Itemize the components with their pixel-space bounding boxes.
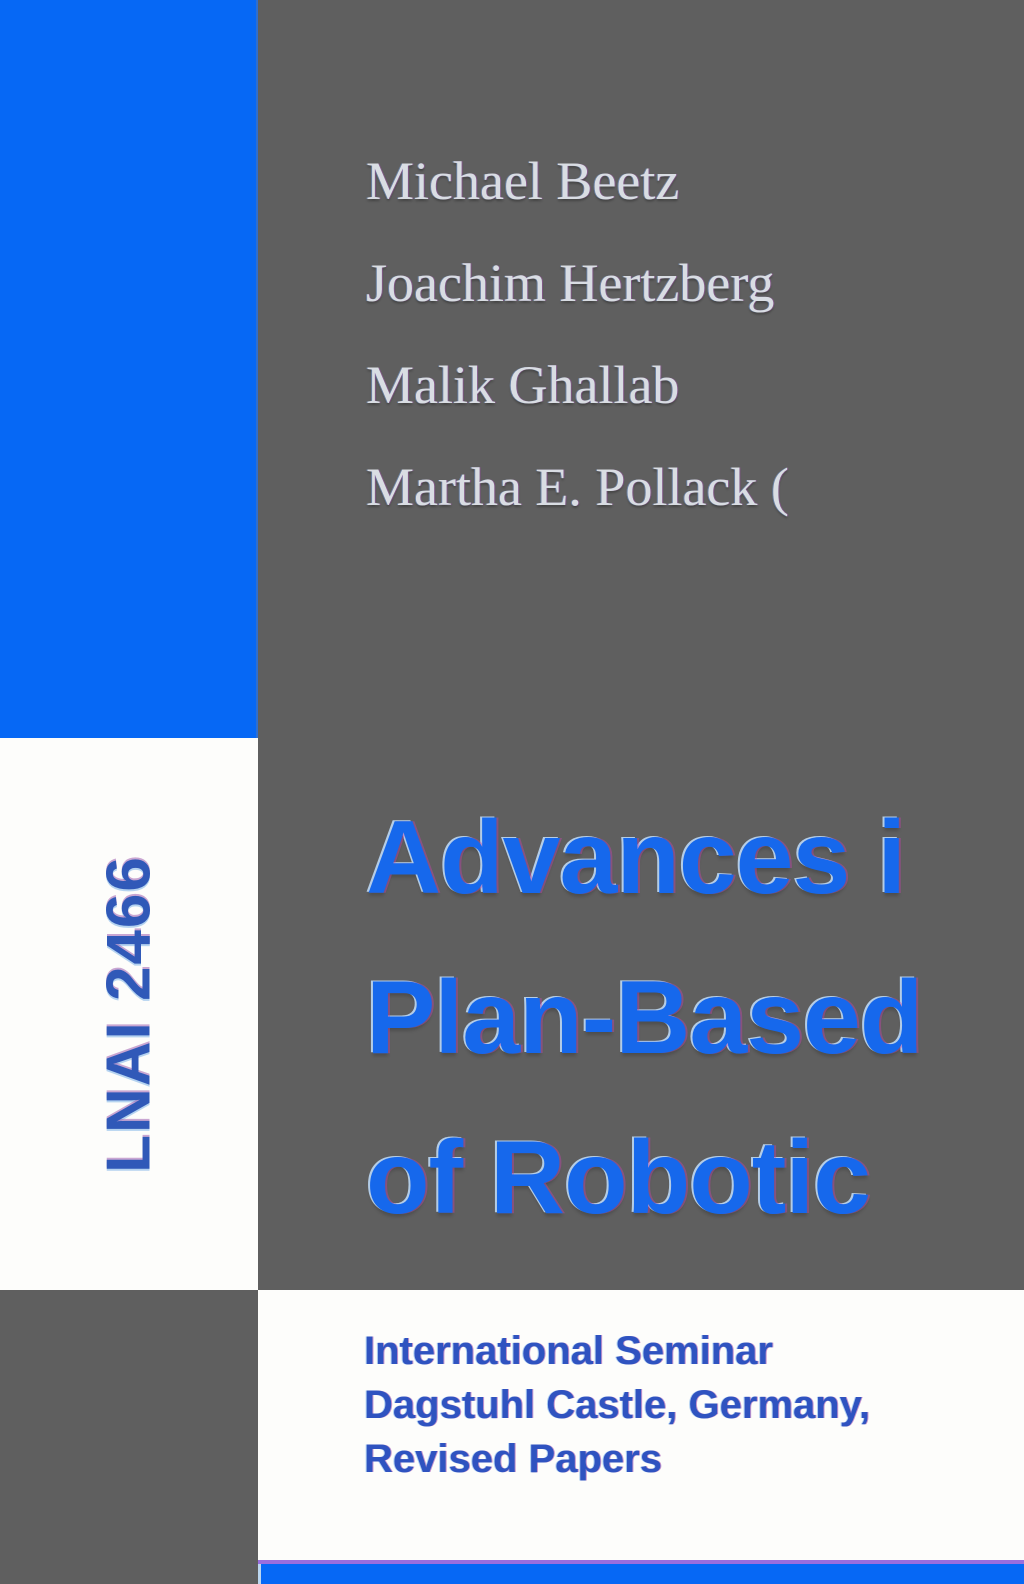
book-cover: Michael Beetz Joachim Hertzberg Malik Gh…	[0, 0, 1024, 1584]
author-list: Michael Beetz Joachim Hertzberg Malik Gh…	[366, 130, 1024, 538]
subtitle-line: Revised Papers	[364, 1432, 1024, 1486]
title-line: Advances i	[366, 778, 1024, 938]
author-line: Joachim Hertzberg	[366, 232, 1024, 334]
book-title: Advances i Plan-Based of Robotic	[366, 778, 1024, 1258]
blue-footer-bar	[258, 1564, 1024, 1584]
author-line: Martha E. Pollack (	[366, 436, 1024, 538]
title-line: of Robotic	[366, 1098, 1024, 1258]
series-spine-label: LNAI 2466	[0, 738, 258, 1290]
subtitle-line: International Seminar	[364, 1324, 1024, 1378]
author-line: Michael Beetz	[366, 130, 1024, 232]
title-line: Plan-Based	[366, 938, 1024, 1098]
series-label-text: LNAI 2466	[94, 855, 165, 1173]
imprint-subtitle: International Seminar Dagstuhl Castle, G…	[364, 1324, 1024, 1486]
blue-header-block	[0, 0, 258, 738]
gray-lower-left-block	[0, 1290, 258, 1584]
subtitle-line: Dagstuhl Castle, Germany,	[364, 1378, 1024, 1432]
author-line: Malik Ghallab	[366, 334, 1024, 436]
